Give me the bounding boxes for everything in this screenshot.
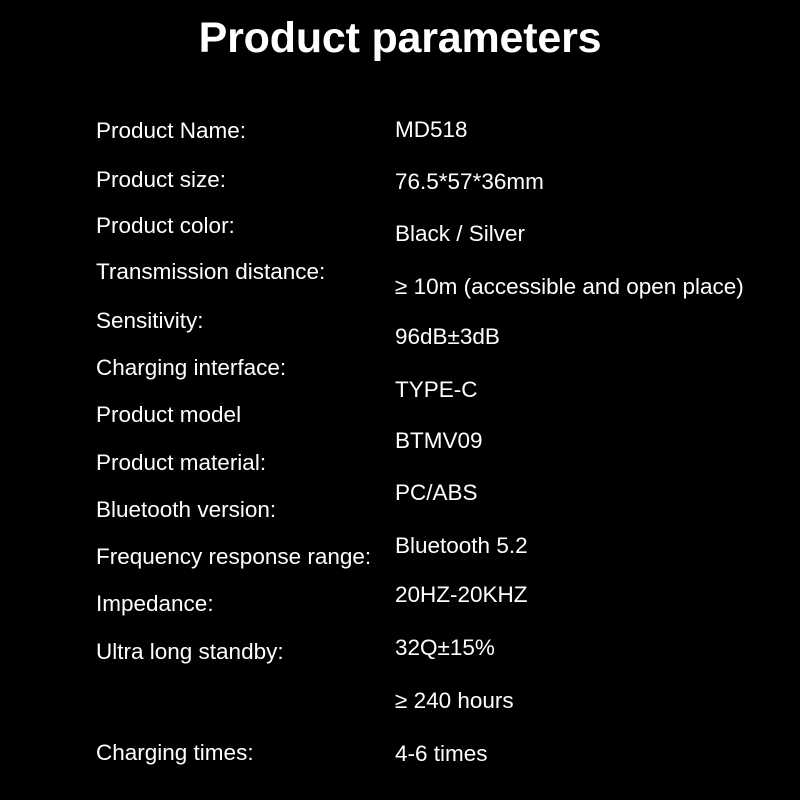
spec-label: Sensitivity: [96, 310, 204, 333]
spec-label: Transmission distance: [96, 261, 325, 284]
spec-label: Bluetooth version: [96, 499, 276, 522]
product-parameters-sheet: Product parameters Product Name:MD518Pro… [0, 0, 800, 800]
spec-table: Product Name:MD518Product size:76.5*57*3… [0, 0, 800, 800]
spec-value: 76.5*57*36mm [395, 171, 544, 194]
spec-value: Black / Silver [395, 223, 525, 246]
spec-label: Charging interface: [96, 357, 286, 380]
spec-label: Product model [96, 404, 241, 427]
spec-value: 20HZ-20KHZ [395, 584, 528, 607]
spec-value: 32Q±15% [395, 637, 495, 660]
spec-label: Product color: [96, 215, 235, 238]
spec-label: Ultra long standby: [96, 641, 284, 664]
spec-value: 96dB±3dB [395, 326, 500, 349]
spec-label: Product Name: [96, 120, 246, 143]
spec-value: Bluetooth 5.2 [395, 535, 528, 558]
spec-value: PC/ABS [395, 482, 478, 505]
spec-value: BTMV09 [395, 430, 483, 453]
spec-value: 4-6 times [395, 743, 488, 766]
spec-label: Frequency response range: [96, 546, 371, 569]
spec-label: Charging times: [96, 742, 254, 765]
spec-value: MD518 [395, 119, 468, 142]
spec-label: Impedance: [96, 593, 214, 616]
spec-value: ≥ 10m (accessible and open place) [395, 276, 744, 299]
spec-value: ≥ 240 hours [395, 690, 514, 713]
spec-label: Product size: [96, 169, 226, 192]
spec-label: Product material: [96, 452, 266, 475]
spec-value: TYPE-C [395, 379, 478, 402]
